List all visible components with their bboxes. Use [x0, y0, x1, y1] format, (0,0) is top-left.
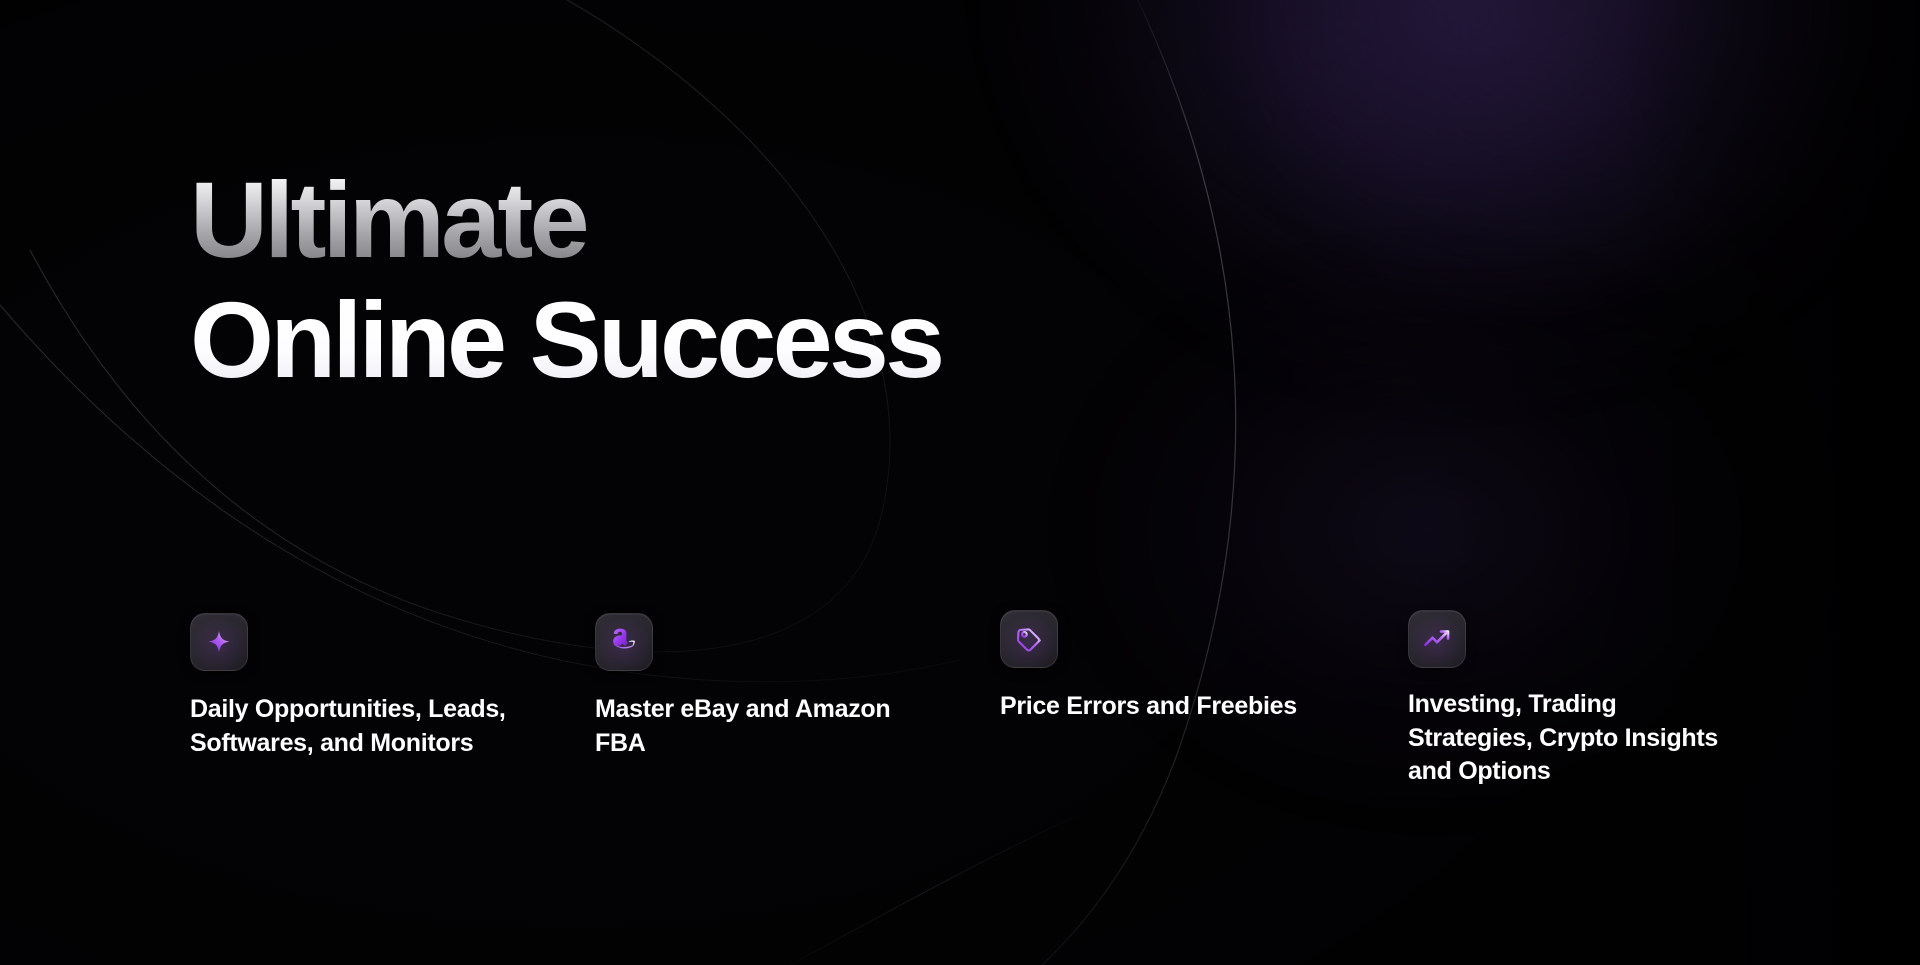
price-tag-icon — [1014, 624, 1044, 654]
trending-up-icon — [1422, 624, 1452, 654]
icon-tile — [1000, 610, 1058, 668]
sparkle-icon — [204, 627, 234, 657]
feature-label: Investing, Trading Strategies, Crypto In… — [1408, 688, 1728, 789]
feature-item-price-errors[interactable]: Price Errors and Freebies — [1000, 610, 1300, 724]
icon-tile — [1408, 610, 1466, 668]
icon-tile — [595, 613, 653, 671]
feature-label: Price Errors and Freebies — [1000, 690, 1300, 724]
amazon-logo-icon — [609, 627, 639, 657]
feature-item-daily-opportunities[interactable]: Daily Opportunities, Leads, Softwares, a… — [190, 613, 520, 760]
hero-section: Ultimate Online Success Daily Opportun — [0, 0, 1920, 965]
feature-item-ebay-amazon[interactable]: Master eBay and Amazon FBA — [595, 613, 895, 760]
icon-tile — [190, 613, 248, 671]
feature-item-investing-trading[interactable]: Investing, Trading Strategies, Crypto In… — [1408, 610, 1728, 789]
feature-list: Daily Opportunities, Leads, Softwares, a… — [0, 0, 1920, 965]
feature-label: Master eBay and Amazon FBA — [595, 693, 895, 760]
feature-label: Daily Opportunities, Leads, Softwares, a… — [190, 693, 520, 760]
